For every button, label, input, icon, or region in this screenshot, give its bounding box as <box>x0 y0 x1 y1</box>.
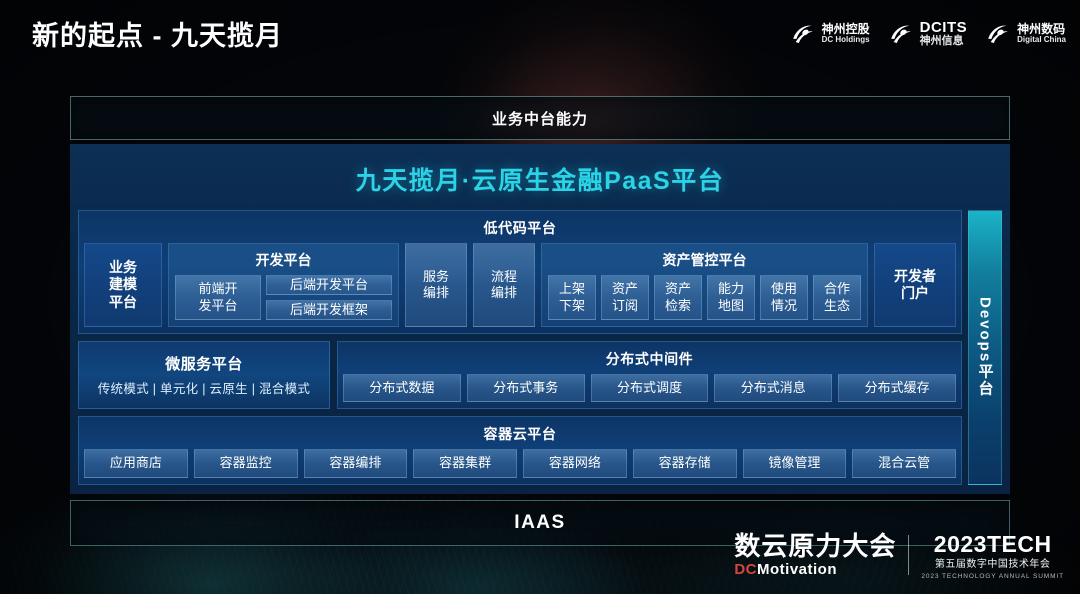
paas-body-row: 低代码平台 业务 建模 平台 开发平台 前端开 发平台 后端开发平台 后端开发框… <box>78 210 1002 485</box>
tile-process-orchestration[interactable]: 流程 编排 <box>473 243 535 327</box>
tile-usage-status[interactable]: 使用 情况 <box>760 275 808 320</box>
dc-holdings-cn: 神州控股 <box>822 23 870 36</box>
digital-china-en: Digital China <box>1017 36 1066 44</box>
dcits-en: 神州信息 <box>920 36 968 48</box>
event-subtitle-en: 2023 TECHNOLOGY ANNUAL SUMMIT <box>921 573 1064 580</box>
event-subtitle-cn: 第五届数字中国技术年会 <box>935 559 1051 571</box>
distributed-middleware-title: 分布式中间件 <box>343 346 956 374</box>
asset-management-group: 资产管控平台 上架 下架 资产 订阅 资产 检索 能力 地图 使用 情况 合作 … <box>541 243 868 327</box>
dc-holdings-logo: 神州控股 DC Holdings <box>790 21 870 47</box>
paas-layers-stack: 低代码平台 业务 建模 平台 开发平台 前端开 发平台 后端开发平台 后端开发框… <box>78 210 962 485</box>
tile-container-monitoring[interactable]: 容器监控 <box>194 449 298 478</box>
asset-management-body: 上架 下架 资产 订阅 资产 检索 能力 地图 使用 情况 合作 生态 <box>548 275 861 320</box>
dcits-logo: DCITS 神州信息 <box>888 20 968 47</box>
dc-holdings-text: 神州控股 DC Holdings <box>822 23 870 44</box>
microservice-platform-box[interactable]: 微服务平台 传统模式 | 单元化 | 云原生 | 混合模式 <box>78 341 330 409</box>
backend-tiles-stack: 后端开发平台 后端开发框架 <box>266 275 392 320</box>
swirl-icon <box>985 21 1011 47</box>
paas-platform-title: 九天揽月·云原生金融PaaS平台 <box>78 161 1002 197</box>
tile-partner-ecosystem[interactable]: 合作 生态 <box>813 275 861 320</box>
event-logo-left: 数云原力大会 DCMotivation <box>734 533 896 577</box>
distributed-middleware-section: 分布式中间件 分布式数据 分布式事务 分布式调度 分布式消息 分布式缓存 <box>337 341 962 409</box>
swirl-icon <box>790 21 816 47</box>
tile-asset-listing[interactable]: 上架 下架 <box>548 275 596 320</box>
microservice-platform-title: 微服务平台 <box>165 353 243 374</box>
iaas-label: IAAS <box>514 512 565 534</box>
tile-developer-portal[interactable]: 开发者 门户 <box>874 243 956 327</box>
devops-platform-sidebar[interactable]: Devops平台 <box>968 210 1002 485</box>
dcits-cn: DCITS <box>920 20 968 36</box>
middle-row: 微服务平台 传统模式 | 单元化 | 云原生 | 混合模式 分布式中间件 分布式… <box>78 341 962 409</box>
tile-asset-subscription[interactable]: 资产 订阅 <box>601 275 649 320</box>
tile-backend-dev-framework[interactable]: 后端开发框架 <box>266 300 392 320</box>
brand-logo-group: 神州控股 DC Holdings DCITS 神州信息 <box>790 20 1066 47</box>
event-logo-right: 2023TECH 第五届数字中国技术年会 2023 TECHNOLOGY ANN… <box>921 531 1064 580</box>
tile-service-orchestration[interactable]: 服务 编排 <box>405 243 467 327</box>
container-cloud-title: 容器云平台 <box>84 421 956 449</box>
event-name-en-motivation: Motivation <box>757 561 837 578</box>
event-year-tech: 2023TECH <box>934 531 1052 557</box>
tile-frontend-dev-platform[interactable]: 前端开 发平台 <box>175 275 261 320</box>
tile-business-modeling-platform[interactable]: 业务 建模 平台 <box>84 243 162 327</box>
container-cloud-section: 容器云平台 应用商店 容器监控 容器编排 容器集群 容器网络 容器存储 镜像管理… <box>78 416 962 485</box>
dev-platform-title: 开发平台 <box>175 247 392 275</box>
lowcode-platform-section: 低代码平台 业务 建模 平台 开发平台 前端开 发平台 后端开发平台 后端开发框… <box>78 210 962 334</box>
tile-backend-dev-platform[interactable]: 后端开发平台 <box>266 275 392 295</box>
tile-distributed-scheduling[interactable]: 分布式调度 <box>591 374 709 402</box>
tile-container-cluster[interactable]: 容器集群 <box>413 449 517 478</box>
paas-platform-panel: 九天揽月·云原生金融PaaS平台 低代码平台 业务 建模 平台 开发平台 前端开… <box>70 144 1010 494</box>
distributed-middleware-body: 分布式数据 分布式事务 分布式调度 分布式消息 分布式缓存 <box>343 374 956 402</box>
tile-distributed-messaging[interactable]: 分布式消息 <box>714 374 832 402</box>
microservice-platform-modes: 传统模式 | 单元化 | 云原生 | 混合模式 <box>98 378 310 397</box>
event-logo-divider <box>908 535 909 575</box>
tile-asset-search[interactable]: 资产 检索 <box>654 275 702 320</box>
digital-china-logo: 神州数码 Digital China <box>985 21 1066 47</box>
tile-container-storage[interactable]: 容器存储 <box>633 449 737 478</box>
event-logo: 数云原力大会 DCMotivation 2023TECH 第五届数字中国技术年会… <box>734 531 1064 580</box>
digital-china-text: 神州数码 Digital China <box>1017 23 1066 44</box>
slide-canvas: 新的起点 - 九天揽月 神州控股 DC Holdings <box>0 0 1080 594</box>
tile-container-orchestration[interactable]: 容器编排 <box>304 449 408 478</box>
tile-distributed-transaction[interactable]: 分布式事务 <box>467 374 585 402</box>
tile-container-network[interactable]: 容器网络 <box>523 449 627 478</box>
container-cloud-body: 应用商店 容器监控 容器编排 容器集群 容器网络 容器存储 镜像管理 混合云管 <box>84 449 956 478</box>
tile-distributed-cache[interactable]: 分布式缓存 <box>838 374 956 402</box>
business-midplatform-label: 业务中台能力 <box>492 108 588 129</box>
event-name-cn: 数云原力大会 <box>734 533 896 559</box>
event-name-en-dc: DC <box>734 561 757 578</box>
swirl-icon <box>888 21 914 47</box>
dc-holdings-en: DC Holdings <box>822 36 870 44</box>
lowcode-platform-body: 业务 建模 平台 开发平台 前端开 发平台 后端开发平台 后端开发框架 <box>84 243 956 327</box>
tile-app-store[interactable]: 应用商店 <box>84 449 188 478</box>
event-name-en: DCMotivation <box>734 562 837 577</box>
dev-platform-body: 前端开 发平台 后端开发平台 后端开发框架 <box>175 275 392 320</box>
asset-management-title: 资产管控平台 <box>548 247 861 275</box>
devops-platform-label: Devops平台 <box>975 297 996 397</box>
page-title: 新的起点 - 九天揽月 <box>32 14 283 53</box>
dev-platform-group: 开发平台 前端开 发平台 后端开发平台 后端开发框架 <box>168 243 399 327</box>
digital-china-cn: 神州数码 <box>1017 23 1066 36</box>
tile-distributed-data[interactable]: 分布式数据 <box>343 374 461 402</box>
tile-image-management[interactable]: 镜像管理 <box>743 449 847 478</box>
tile-hybrid-cloud-management[interactable]: 混合云管 <box>852 449 956 478</box>
tile-capability-map[interactable]: 能力 地图 <box>707 275 755 320</box>
dcits-text: DCITS 神州信息 <box>920 20 968 47</box>
slide-header: 新的起点 - 九天揽月 神州控股 DC Holdings <box>0 0 1080 68</box>
lowcode-platform-title: 低代码平台 <box>84 215 956 243</box>
business-midplatform-bar: 业务中台能力 <box>70 96 1010 140</box>
architecture-diagram: 业务中台能力 九天揽月·云原生金融PaaS平台 低代码平台 业务 建模 平台 开… <box>70 96 1010 546</box>
